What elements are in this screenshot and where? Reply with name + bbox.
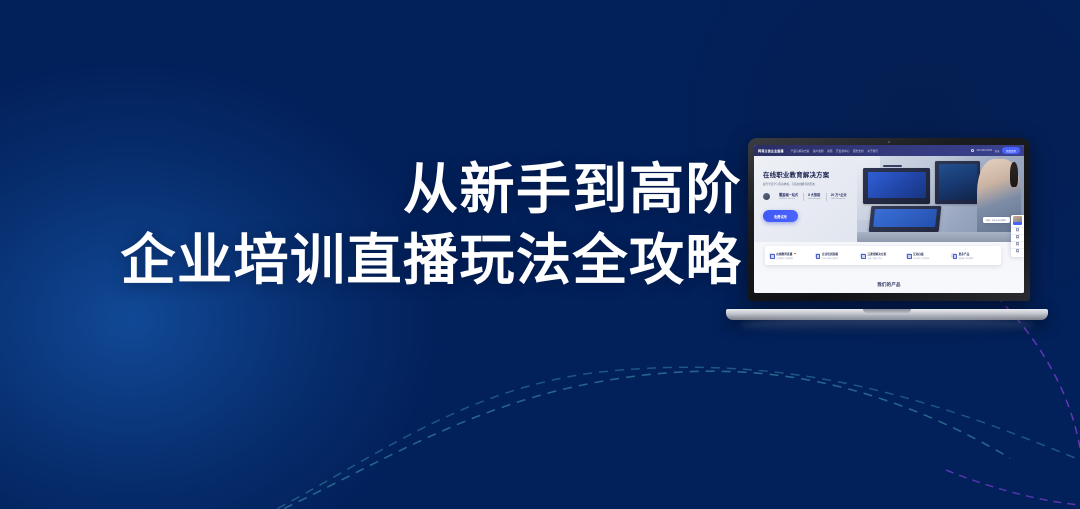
nav-link-3[interactable]: 开发者中心 — [836, 149, 849, 153]
trial-icon — [1016, 242, 1019, 245]
feature-icon-1 — [815, 253, 820, 258]
feature-item-3[interactable]: 互动白板 多人协作 / 实时同步 — [906, 252, 952, 260]
nav-links: 产品与解决方案 客户案例 资源 开发者中心 服务支持 关于我们 — [791, 149, 878, 153]
hero-stat-2-sub: 20W Enterprise — [831, 198, 847, 200]
chat-icon — [1016, 228, 1019, 231]
hero-stat-0-sub: FullStack Service — [779, 198, 798, 200]
section-title: 我们的产品 — [754, 282, 1024, 288]
side-item-1[interactable]: 电话 — [1011, 234, 1024, 241]
hero-cta-button[interactable]: 免费试用 — [763, 210, 798, 222]
photo-monitor-left — [863, 168, 930, 204]
side-item-2-label: 试用 — [1016, 245, 1019, 247]
laptop-notch — [863, 309, 911, 313]
photo-person-hair — [1010, 162, 1018, 187]
nav-right-group: 400-666-8166 登录 免费试用 — [971, 147, 1020, 153]
side-item-3[interactable]: 顶部 — [1011, 248, 1024, 255]
phone-side-icon — [1016, 235, 1019, 238]
nav-cta-button[interactable]: 免费试用 — [1002, 147, 1020, 153]
nav-phone-number: 400-666-8166 — [976, 149, 992, 152]
headline-line-1: 从新手到高阶 — [0, 162, 742, 217]
laptop-reflection — [740, 316, 1034, 334]
site-section: 我们的产品 十余年技术沉淀，稳定可靠，全球化部署服务 — [754, 273, 1024, 293]
dashed-curve-cyan-2 — [190, 367, 1080, 509]
hero-stat-0-title: 覆盖端一站式 — [779, 192, 798, 197]
hero-subtitle: 提升学员学习互动体验，打造在线教育新形态 — [763, 182, 829, 186]
webcam-icon — [888, 141, 890, 143]
feature-title-0: 在线教育直播 — [776, 252, 792, 256]
nav-login-link[interactable]: 登录 — [994, 149, 999, 153]
laptop-lid: 网易云信企业直播 产品与解决方案 客户案例 资源 开发者中心 服务支持 关于我们… — [748, 138, 1030, 301]
photo-monitor-right — [935, 161, 980, 204]
side-item-3-label: 顶部 — [1016, 252, 1019, 254]
feature-title-1: 企业培训直播 — [822, 252, 838, 256]
dashed-curve-cyan-1 — [150, 371, 1010, 509]
nav-link-2[interactable]: 资源 — [827, 149, 832, 153]
hero-copy: 在线职业教育解决方案 提升学员学习互动体验，打造在线教育新形态 — [763, 170, 829, 186]
laptop-screen: 网易云信企业直播 产品与解决方案 客户案例 资源 开发者中心 服务支持 关于我们… — [754, 145, 1024, 293]
photo-tablet — [869, 206, 942, 232]
hero-stat-0: 覆盖端一站式 FullStack Service — [774, 192, 803, 200]
feature-icon-4 — [951, 253, 956, 258]
website-preview: 网易云信企业直播 产品与解决方案 客户案例 资源 开发者中心 服务支持 关于我们… — [754, 145, 1024, 293]
feature-icon-3 — [906, 253, 911, 258]
hero-stat-2: 20 万+企业 20W Enterprise — [826, 192, 852, 200]
hero-stat-2-title: 20 万+企业 — [831, 192, 847, 197]
banner-headline: 从新手到高阶 企业培训直播玩法全攻略 — [0, 162, 742, 288]
feature-sub-0: 互动课堂 / 双师课堂 — [776, 257, 796, 260]
nav-link-5[interactable]: 关于我们 — [867, 149, 878, 153]
hero-stats: 覆盖端一站式 FullStack Service 8 大智能 Smart Eng… — [763, 192, 852, 200]
scroll-top-icon — [1016, 249, 1019, 252]
laptop-mockup: 网易云信企业直播 产品与解决方案 客户案例 资源 开发者中心 服务支持 关于我们… — [726, 138, 1048, 320]
feature-card: 在线教育直播 互动课堂 / 双师课堂 企业培训直播 内训 / 招商 / 发布会 — [765, 246, 1001, 265]
chat-bubble-text: 您好，有什么可以帮您？ — [986, 220, 1007, 222]
feature-item-4[interactable]: 更多产品 音视频 / 即时通讯 — [951, 252, 997, 260]
feature-sub-2: 点播 / 直播 / 考试 — [867, 257, 886, 260]
feature-sub-1: 内训 / 招商 / 发布会 — [822, 257, 838, 260]
nav-link-0[interactable]: 产品与解决方案 — [791, 149, 810, 153]
dashed-curve-purple-2 — [946, 470, 1080, 505]
feature-title-2: 云课堂解决方案 — [867, 252, 886, 256]
floating-side-panel: 咨询 电话 试用 顶部 — [1011, 215, 1024, 257]
hero-stat-1-sub: Smart Engine — [808, 198, 821, 200]
feature-item-2[interactable]: 云课堂解决方案 点播 / 直播 / 考试 — [860, 252, 906, 260]
side-item-0[interactable]: 咨询 — [1011, 227, 1024, 234]
hot-badge-icon — [794, 253, 797, 255]
feature-icon-0 — [769, 253, 774, 258]
feature-item-0[interactable]: 在线教育直播 互动课堂 / 双师课堂 — [769, 252, 815, 260]
feature-title-3: 互动白板 — [913, 252, 924, 256]
chat-bubble[interactable]: 您好，有什么可以帮您？ — [983, 217, 1010, 223]
promo-banner: 从新手到高阶 企业培训直播玩法全攻略 网易云信企业直播 产品与解决方案 客户案例… — [0, 0, 1080, 509]
feature-icon-2 — [860, 253, 865, 258]
section-subtitle: 十余年技术沉淀，稳定可靠，全球化部署服务 — [754, 292, 1024, 294]
feature-sub-4: 音视频 / 即时通讯 — [959, 257, 974, 260]
site-hero: 在线职业教育解决方案 提升学员学习互动体验，打造在线教育新形态 覆盖端一站式 F… — [754, 156, 1024, 242]
nav-link-1[interactable]: 客户案例 — [813, 149, 824, 153]
site-navbar: 网易云信企业直播 产品与解决方案 客户案例 资源 开发者中心 服务支持 关于我们… — [754, 145, 1024, 156]
photo-camera-bar — [883, 165, 901, 168]
nav-link-4[interactable]: 服务支持 — [853, 149, 864, 153]
feature-title-4: 更多产品 — [959, 252, 970, 256]
hero-stat-1-title: 8 大智能 — [808, 192, 821, 197]
hero-title: 在线职业教育解决方案 — [763, 170, 829, 179]
headline-line-2: 企业培训直播玩法全攻略 — [0, 233, 742, 288]
side-item-1-label: 电话 — [1016, 238, 1019, 240]
feature-item-1[interactable]: 企业培训直播 内训 / 招商 / 发布会 — [815, 252, 861, 260]
stats-badge-icon — [763, 193, 770, 200]
feature-sub-3: 多人协作 / 实时同步 — [913, 257, 930, 260]
phone-icon — [971, 149, 974, 152]
customer-service-avatar[interactable] — [1013, 216, 1022, 225]
side-item-2[interactable]: 试用 — [1011, 241, 1024, 248]
hero-photo — [857, 156, 1024, 242]
side-item-0-label: 咨询 — [1016, 231, 1019, 233]
site-logo[interactable]: 网易云信企业直播 — [758, 148, 784, 153]
photo-desk — [857, 232, 1024, 242]
hero-stat-1: 8 大智能 Smart Engine — [803, 192, 826, 200]
